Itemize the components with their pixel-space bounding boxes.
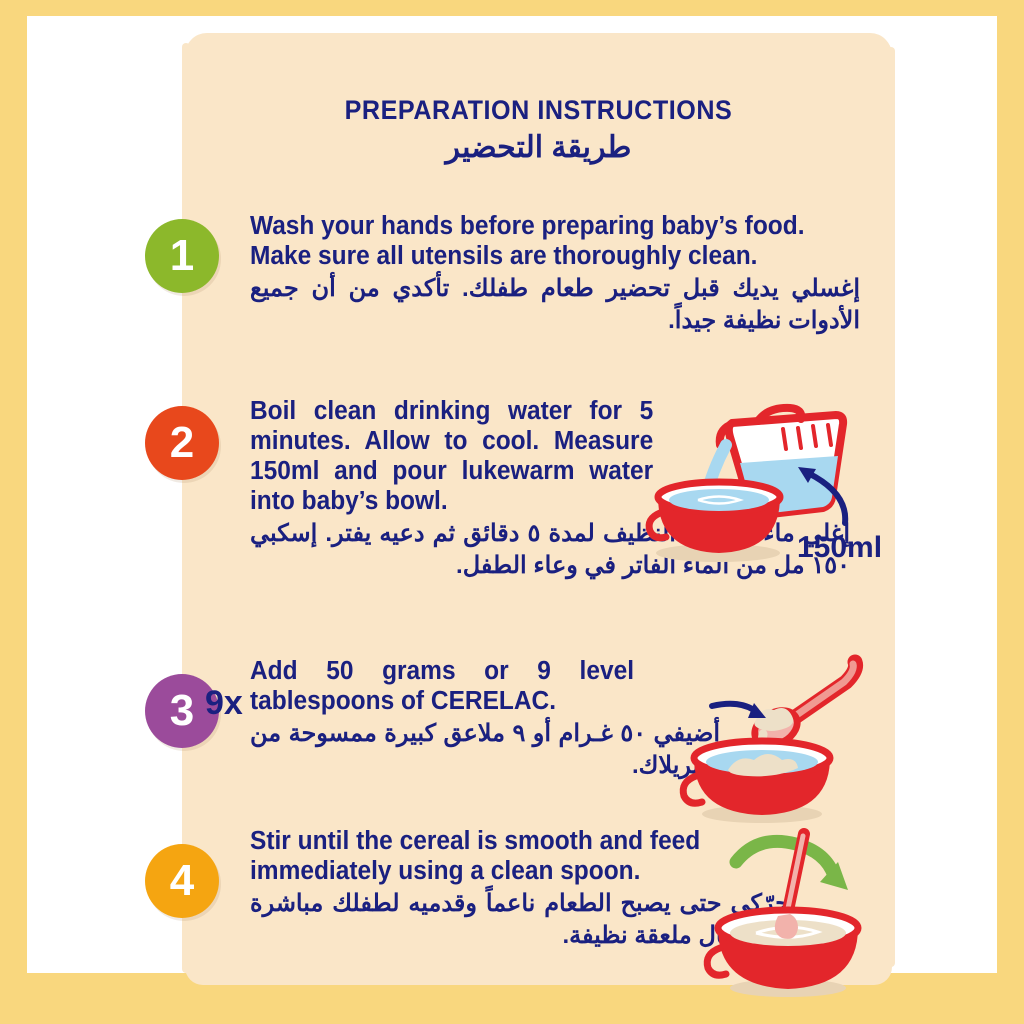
step-1-text-ar: إغسلي يديك قبل تحضير طعام طفلك. تأكدي من… bbox=[250, 273, 860, 337]
bowl-with-spoon-stirring-illustration bbox=[700, 828, 875, 1008]
instructions-card: PREPARATION INSTRUCTIONS طريقة التحضير 1… bbox=[185, 33, 892, 985]
step-3-caption-9x: 9x bbox=[205, 684, 243, 723]
step-2-number-badge: 2 bbox=[145, 406, 219, 480]
spoon-pouring-cereal-into-bowl-illustration bbox=[650, 648, 865, 838]
step-4-number-badge: 4 bbox=[145, 844, 219, 918]
step-3-body: Add 50 grams or 9 level tablespoons of C… bbox=[250, 656, 650, 782]
poster-frame: PREPARATION INSTRUCTIONS طريقة التحضير 1… bbox=[0, 0, 1024, 1024]
step-1-body: Wash your hands before preparing baby’s … bbox=[250, 211, 860, 337]
step-1-text-en: Wash your hands before preparing baby’s … bbox=[250, 211, 836, 271]
page-title-ar: طريقة التحضير bbox=[185, 130, 892, 165]
card-heading: PREPARATION INSTRUCTIONS طريقة التحضير bbox=[185, 95, 892, 165]
step-2-caption-150ml: 150ml bbox=[797, 531, 882, 565]
step-1-number-badge: 1 bbox=[145, 219, 219, 293]
step-4-text-en: Stir until the cereal is smooth and feed… bbox=[250, 826, 768, 886]
step-3-text-en: Add 50 grams or 9 level tablespoons of C… bbox=[250, 656, 634, 716]
page-title-en: PREPARATION INSTRUCTIONS bbox=[210, 95, 868, 126]
step-2-body: Boil clean drinking water for 5 minutes.… bbox=[250, 396, 670, 582]
step-2-text-en: Boil clean drinking water for 5 minutes.… bbox=[250, 396, 653, 516]
